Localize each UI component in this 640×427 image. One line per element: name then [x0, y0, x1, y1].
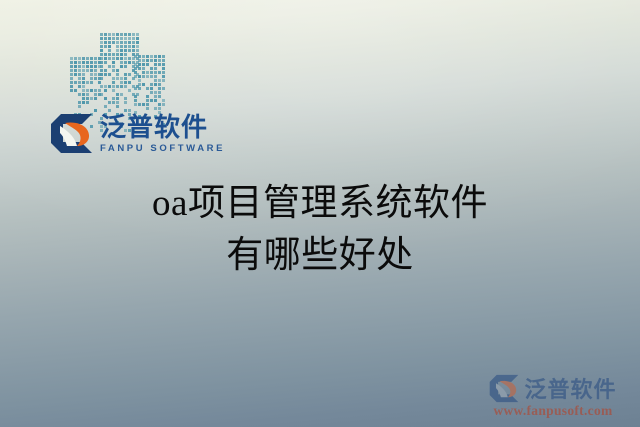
- page-title-line-2: 有哪些好处: [0, 230, 640, 282]
- brand-wordmark: 泛普软件 FANPU SOFTWARE: [100, 114, 225, 154]
- page-title: oa项目管理系统软件 有哪些好处: [0, 178, 640, 282]
- watermark-name-cn: 泛普软件: [524, 372, 616, 404]
- brand-logo: 泛普软件 FANPU SOFTWARE: [50, 113, 225, 154]
- watermark: 泛普软件 www.fanpusoft.com: [474, 372, 632, 419]
- fanpu-watermark-logo-mark: [489, 374, 519, 403]
- fanpu-hexagon-swoosh-logo-mark: [50, 113, 93, 154]
- pixel-city-skyline-graphic: [70, 33, 170, 113]
- poster-canvas: 泛普软件 FANPU SOFTWARE oa项目管理系统软件 有哪些好处 泛普软…: [0, 0, 640, 427]
- brand-name-en: FANPU SOFTWARE: [100, 144, 225, 154]
- brand-name-cn: 泛普软件: [100, 114, 225, 140]
- watermark-logo-row: 泛普软件: [489, 372, 616, 404]
- page-title-line-1: oa项目管理系统软件: [0, 178, 640, 230]
- watermark-url: www.fanpusoft.com: [493, 403, 612, 419]
